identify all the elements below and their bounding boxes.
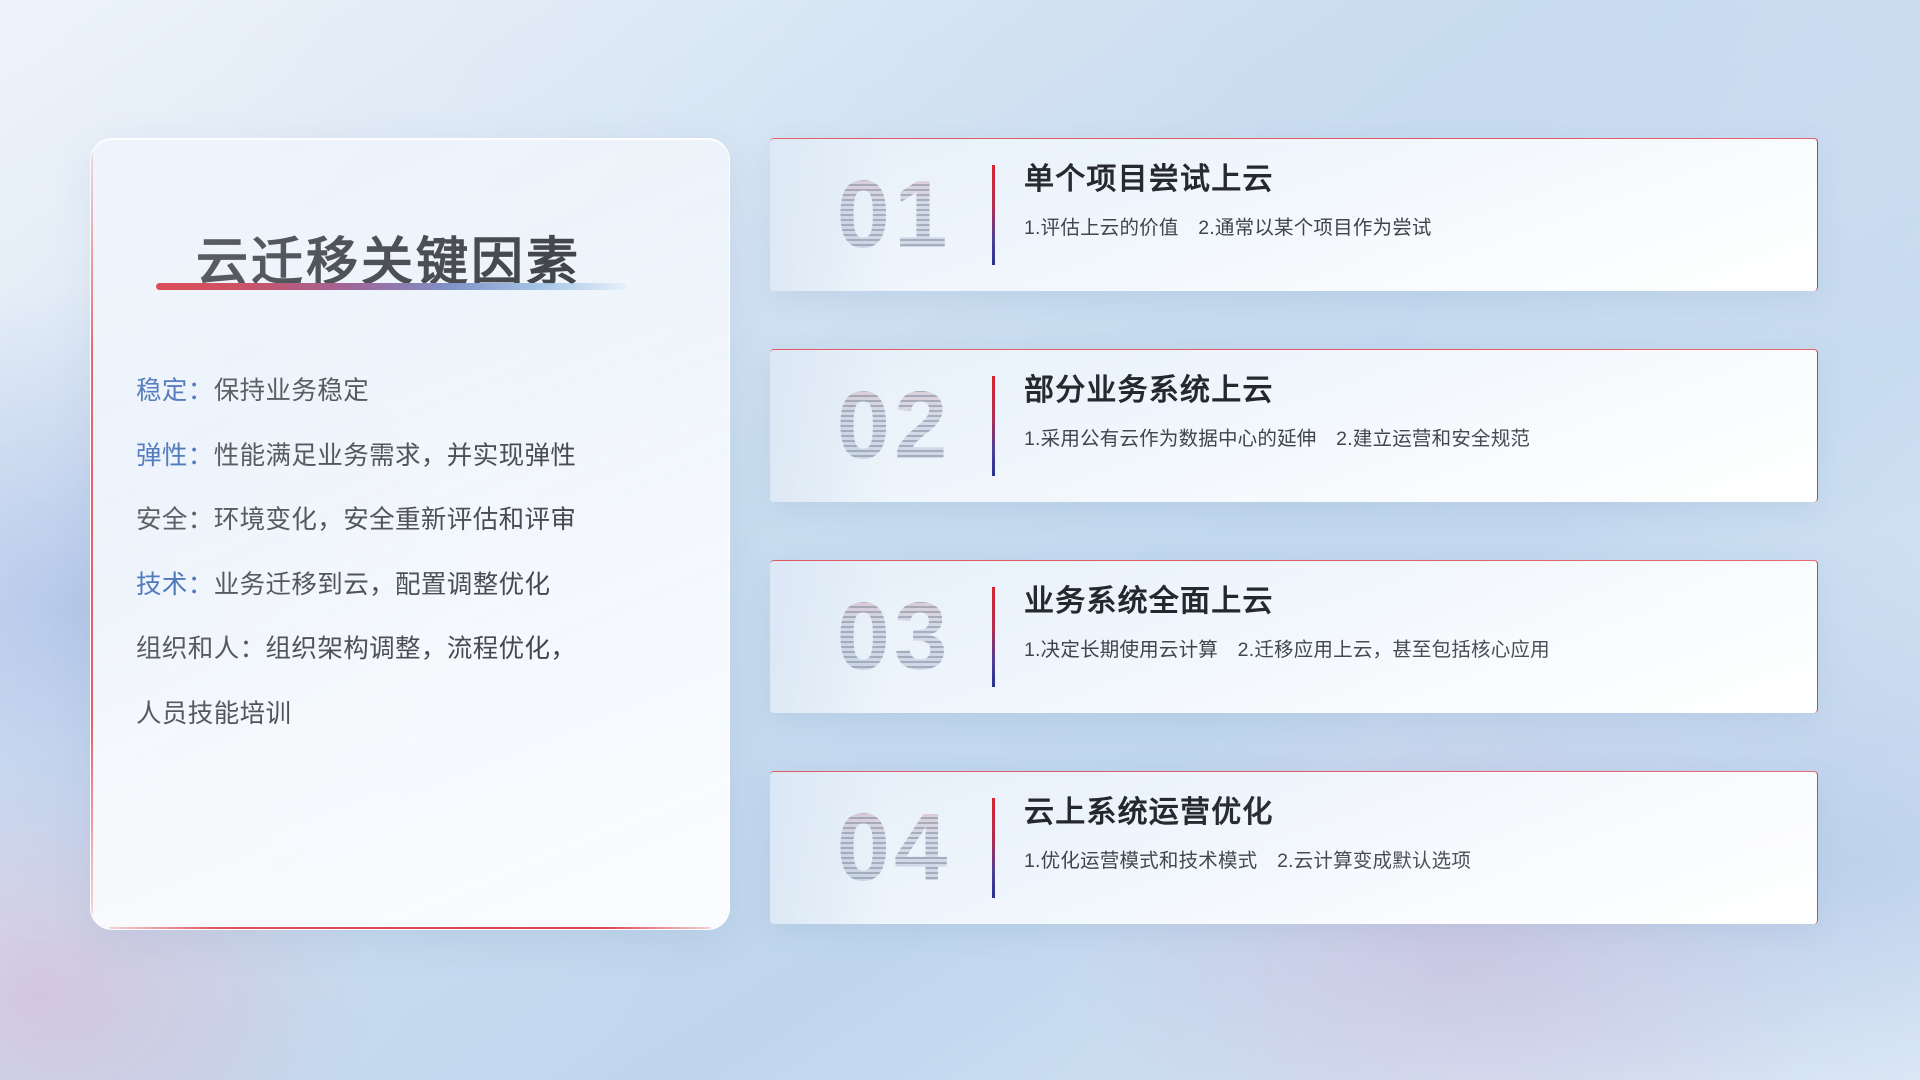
stage-number-graphic: 04 (804, 792, 984, 904)
factor-row: 人员技能培训 (136, 702, 705, 728)
key-factors-panel: 云迁移关键因素 稳定：保持业务稳定 弹性：性能满足业务需求，并实现弹性 安全：环… (90, 138, 730, 930)
stage-card-body: 部分业务系统上云 1.采用公有云作为数据中心的延伸 2.建立运营和安全规范 (1024, 372, 1793, 452)
stage-card[interactable]: 03 业务系统全面上云 1.决定长期使用云计算 2.迁移应用上云，甚至包括核心应… (770, 560, 1818, 713)
factor-row: 稳定：保持业务稳定 (136, 379, 705, 405)
stage-number-graphic: 03 (804, 581, 984, 693)
stage-description: 1.采用公有云作为数据中心的延伸 2.建立运营和安全规范 (1024, 427, 1793, 452)
stage-card-body: 云上系统运营优化 1.优化运营模式和技术模式 2.云计算变成默认选项 (1024, 794, 1793, 874)
stage-card-body: 业务系统全面上云 1.决定长期使用云计算 2.迁移应用上云，甚至包括核心应用 (1024, 583, 1793, 663)
stage-title: 单个项目尝试上云 (1024, 161, 1793, 199)
factor-row: 技术：业务迁移到云，配置调整优化 (136, 573, 705, 599)
factor-value: 业务迁移到云，配置调整优化 (214, 571, 551, 599)
stage-title: 部分业务系统上云 (1024, 372, 1793, 410)
factor-key: 安全： (136, 506, 214, 534)
stage-title: 云上系统运营优化 (1024, 794, 1793, 832)
stage-description: 1.决定长期使用云计算 2.迁移应用上云，甚至包括核心应用 (1024, 638, 1793, 663)
factor-value: 保持业务稳定 (214, 377, 369, 405)
factor-row: 弹性：性能满足业务需求，并实现弹性 (136, 444, 705, 470)
panel-left-accent-bar (91, 153, 93, 915)
stage-card[interactable]: 01 单个项目尝试上云 1.评估上云的价值 2.通常以某个项目作为尝试 (770, 138, 1818, 291)
stage-divider-bar (992, 798, 995, 898)
panel-bottom-accent-bar (109, 927, 711, 929)
stage-divider-bar (992, 165, 995, 265)
factor-key: 弹性： (136, 442, 214, 470)
stage-card-body: 单个项目尝试上云 1.评估上云的价值 2.通常以某个项目作为尝试 (1024, 161, 1793, 241)
factor-key: 稳定： (136, 377, 214, 405)
factor-value: 人员技能培训 (136, 700, 291, 728)
factor-value: 组织架构调整，流程优化， (266, 635, 577, 663)
factor-key: 技术： (136, 571, 214, 599)
stage-divider-bar (992, 587, 995, 687)
factor-value: 性能满足业务需求，并实现弹性 (214, 442, 577, 470)
stage-title: 业务系统全面上云 (1024, 583, 1793, 621)
stage-number-graphic: 01 (804, 159, 984, 271)
factor-list: 稳定：保持业务稳定 弹性：性能满足业务需求，并实现弹性 安全：环境变化，安全重新… (136, 379, 705, 727)
stage-card[interactable]: 02 部分业务系统上云 1.采用公有云作为数据中心的延伸 2.建立运营和安全规范 (770, 349, 1818, 502)
stage-divider-bar (992, 376, 995, 476)
slide-canvas: 云迁移关键因素 稳定：保持业务稳定 弹性：性能满足业务需求，并实现弹性 安全：环… (0, 0, 1920, 1080)
factor-key: 组织和人： (136, 635, 266, 663)
stage-description: 1.评估上云的价值 2.通常以某个项目作为尝试 (1024, 216, 1793, 241)
title-underline-gradient (156, 283, 626, 290)
stage-card-list: 01 单个项目尝试上云 1.评估上云的价值 2.通常以某个项目作为尝试 02 部… (770, 138, 1818, 924)
factor-value: 环境变化，安全重新评估和评审 (214, 506, 577, 534)
stage-description: 1.优化运营模式和技术模式 2.云计算变成默认选项 (1024, 849, 1793, 874)
factor-row: 安全：环境变化，安全重新评估和评审 (136, 508, 705, 534)
stage-card[interactable]: 04 云上系统运营优化 1.优化运营模式和技术模式 2.云计算变成默认选项 (770, 771, 1818, 924)
factor-row: 组织和人：组织架构调整，流程优化， (136, 637, 705, 663)
stage-number-graphic: 02 (804, 370, 984, 482)
